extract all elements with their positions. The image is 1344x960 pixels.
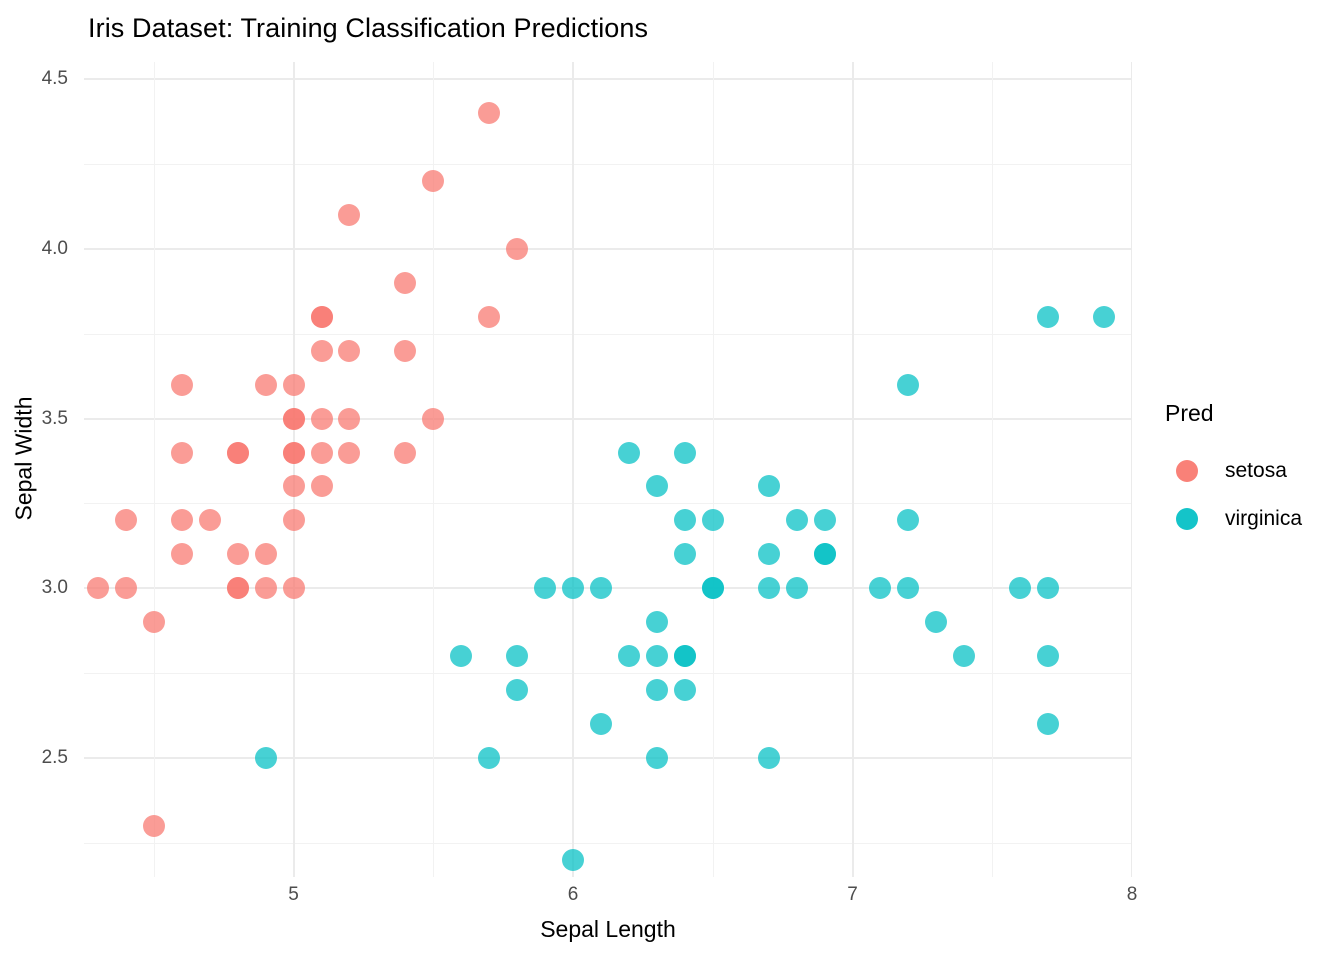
data-point-virginica [702, 577, 724, 599]
data-point-virginica [506, 645, 528, 667]
data-point-virginica [562, 577, 584, 599]
data-point-virginica [786, 509, 808, 531]
x-tick-label: 8 [1127, 884, 1138, 906]
data-point-virginica [618, 645, 640, 667]
data-point-virginica [674, 509, 696, 531]
data-point-setosa [255, 374, 277, 396]
gridline-horizontal-major [84, 418, 1132, 420]
data-point-setosa [283, 577, 305, 599]
data-point-setosa [283, 408, 305, 430]
data-point-setosa [338, 442, 360, 464]
gridline-vertical-minor [992, 62, 993, 877]
legend: Pred setosavirginica [1163, 400, 1338, 543]
x-tick-label: 6 [568, 884, 579, 906]
y-tick-label: 4.0 [42, 238, 68, 260]
data-point-virginica [814, 509, 836, 531]
gridline-horizontal-minor [84, 164, 1132, 165]
data-point-setosa [283, 475, 305, 497]
legend-label: setosa [1225, 459, 1287, 483]
data-point-virginica [1037, 306, 1059, 328]
legend-title: Pred [1165, 400, 1338, 427]
data-point-virginica [814, 543, 836, 565]
data-point-setosa [87, 577, 109, 599]
data-point-setosa [115, 509, 137, 531]
x-axis-ticks: 5678 [84, 884, 1132, 914]
data-point-virginica [758, 747, 780, 769]
data-point-setosa [199, 509, 221, 531]
data-point-virginica [674, 442, 696, 464]
data-point-setosa [255, 543, 277, 565]
y-tick-label: 4.5 [42, 68, 68, 90]
data-point-virginica [897, 374, 919, 396]
data-point-setosa [227, 543, 249, 565]
gridline-vertical-major [572, 62, 574, 877]
data-point-virginica [925, 611, 947, 633]
data-point-virginica [758, 577, 780, 599]
legend-key-setosa [1163, 447, 1211, 495]
data-point-virginica [897, 577, 919, 599]
data-point-setosa [311, 442, 333, 464]
gridline-horizontal-minor [84, 843, 1132, 844]
gridline-vertical-major [293, 62, 295, 877]
data-point-virginica [534, 577, 556, 599]
legend-dot-icon [1176, 508, 1198, 530]
data-point-setosa [171, 543, 193, 565]
data-point-setosa [171, 442, 193, 464]
legend-item-setosa[interactable]: setosa [1163, 447, 1338, 495]
data-point-setosa [311, 408, 333, 430]
data-point-virginica [897, 509, 919, 531]
data-point-setosa [283, 442, 305, 464]
data-point-setosa [143, 815, 165, 837]
y-tick-label: 3.0 [42, 577, 68, 599]
data-point-setosa [478, 306, 500, 328]
data-point-setosa [115, 577, 137, 599]
data-point-setosa [227, 577, 249, 599]
data-point-virginica [646, 645, 668, 667]
gridline-horizontal-major [84, 78, 1132, 80]
chart-root: Iris Dataset: Training Classification Pr… [0, 0, 1344, 960]
data-point-virginica [674, 645, 696, 667]
data-point-virginica [646, 611, 668, 633]
data-point-virginica [1037, 645, 1059, 667]
data-point-setosa [171, 374, 193, 396]
data-point-setosa [394, 340, 416, 362]
gridline-vertical-major [852, 62, 854, 877]
data-point-virginica [758, 543, 780, 565]
data-point-setosa [171, 509, 193, 531]
data-point-setosa [338, 204, 360, 226]
x-axis-title: Sepal Length [84, 916, 1132, 943]
data-point-setosa [255, 577, 277, 599]
data-point-virginica [562, 849, 584, 871]
data-point-virginica [1009, 577, 1031, 599]
x-tick-label: 7 [847, 884, 858, 906]
data-point-setosa [143, 611, 165, 633]
data-point-setosa [478, 102, 500, 124]
data-point-virginica [646, 475, 668, 497]
data-point-virginica [450, 645, 472, 667]
data-point-virginica [1093, 306, 1115, 328]
x-tick-label: 5 [288, 884, 299, 906]
data-point-setosa [311, 475, 333, 497]
data-point-virginica [758, 475, 780, 497]
data-point-virginica [255, 747, 277, 769]
gridline-horizontal-major [84, 248, 1132, 250]
data-point-setosa [283, 374, 305, 396]
data-point-setosa [227, 442, 249, 464]
data-point-setosa [422, 170, 444, 192]
data-point-virginica [590, 577, 612, 599]
plot-panel [84, 62, 1132, 877]
gridline-vertical-major [1131, 62, 1132, 877]
data-point-setosa [394, 442, 416, 464]
legend-dot-icon [1176, 460, 1198, 482]
data-point-setosa [422, 408, 444, 430]
data-point-setosa [311, 340, 333, 362]
gridline-horizontal-major [84, 757, 1132, 759]
data-point-virginica [1037, 713, 1059, 735]
y-axis-title: Sepal Width [11, 249, 38, 669]
data-point-setosa [338, 408, 360, 430]
data-point-virginica [674, 543, 696, 565]
data-point-virginica [869, 577, 891, 599]
data-point-virginica [786, 577, 808, 599]
data-point-setosa [283, 509, 305, 531]
y-tick-label: 3.5 [42, 408, 68, 430]
y-tick-label: 2.5 [42, 747, 68, 769]
data-point-virginica [702, 509, 724, 531]
legend-item-virginica[interactable]: virginica [1163, 495, 1338, 543]
data-point-virginica [478, 747, 500, 769]
data-point-setosa [394, 272, 416, 294]
gridline-vertical-minor [713, 62, 714, 877]
data-point-virginica [1037, 577, 1059, 599]
legend-key-virginica [1163, 495, 1211, 543]
data-point-virginica [506, 679, 528, 701]
gridline-horizontal-minor [84, 503, 1132, 504]
data-point-virginica [646, 747, 668, 769]
gridline-horizontal-minor [84, 334, 1132, 335]
data-point-virginica [953, 645, 975, 667]
gridline-vertical-minor [154, 62, 155, 877]
data-point-virginica [646, 679, 668, 701]
data-point-virginica [618, 442, 640, 464]
data-point-virginica [674, 679, 696, 701]
page-title: Iris Dataset: Training Classification Pr… [88, 13, 648, 44]
data-point-setosa [311, 306, 333, 328]
data-point-setosa [338, 340, 360, 362]
gridline-horizontal-minor [84, 673, 1132, 674]
data-point-virginica [590, 713, 612, 735]
legend-items: setosavirginica [1163, 447, 1338, 543]
data-point-setosa [506, 238, 528, 260]
legend-label: virginica [1225, 507, 1302, 531]
